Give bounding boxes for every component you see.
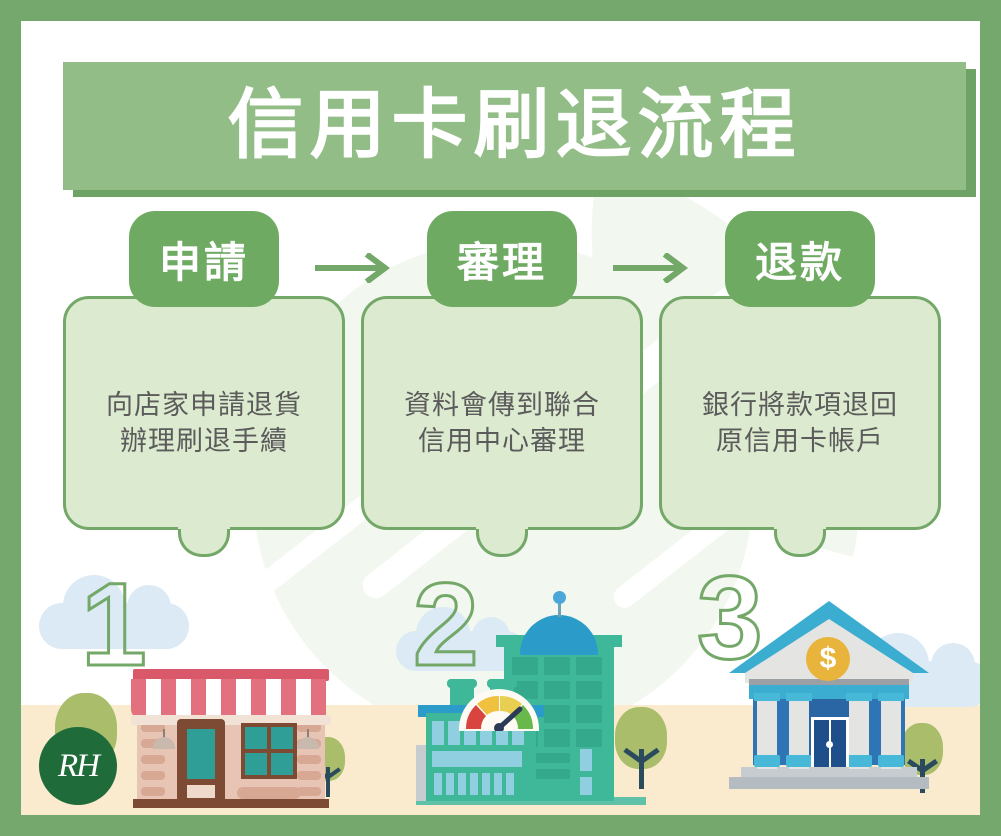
step-2-body: 資料會傳到聯合 信用中心審理 — [404, 388, 600, 459]
credit-gauge-icon — [458, 685, 540, 729]
step-2-badge: 審理 — [427, 211, 577, 307]
step-1-badge: 申請 — [129, 211, 279, 307]
step-3-card-tail — [774, 527, 826, 557]
title-banner: 信用卡刷退流程 — [63, 62, 966, 190]
step-1-card: 向店家申請退貨 辦理刷退手續 — [63, 296, 345, 530]
step-1-body: 向店家申請退貨 辦理刷退手續 — [106, 388, 302, 459]
awning — [131, 679, 331, 719]
page-title: 信用卡刷退流程 — [228, 88, 802, 164]
step-3-body: 銀行將款項退回 原信用卡帳戶 — [702, 388, 898, 459]
step-2-number: 2 — [413, 566, 479, 684]
dome-icon — [520, 615, 598, 655]
step-1-card-tail — [178, 527, 230, 557]
step-2-card: 資料會傳到聯合 信用中心審理 — [361, 296, 643, 530]
step-3-number: 3 — [697, 559, 763, 677]
step-3-badge: 退款 — [725, 211, 875, 307]
infographic-frame: 信用卡刷退流程 向店家申請退貨 辦理刷退手續 申請 資料會傳到聯合 信用中心審理… — [21, 21, 980, 815]
step-1-number: 1 — [81, 566, 147, 684]
steps-row: 向店家申請退貨 辦理刷退手續 申請 資料會傳到聯合 信用中心審理 審理 銀行將款… — [21, 211, 980, 541]
brand-logo: RH — [39, 727, 117, 805]
arrow-right-icon-2 — [611, 253, 691, 283]
storefront-icon — [131, 641, 331, 806]
dollar-coin-icon: $ — [806, 637, 850, 681]
arrow-right-icon-1 — [313, 253, 393, 283]
step-3-card: 銀行將款項退回 原信用卡帳戶 — [659, 296, 941, 530]
